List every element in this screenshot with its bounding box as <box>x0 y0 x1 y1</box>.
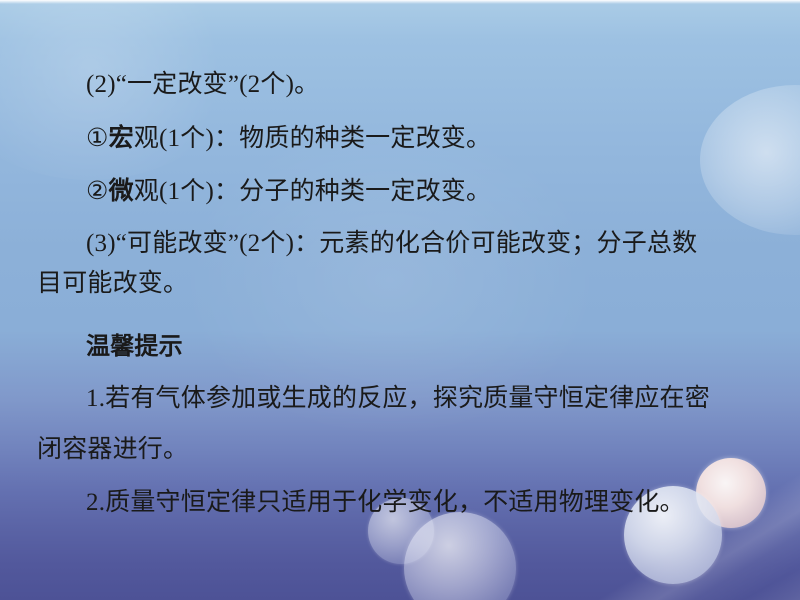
text-line-macro-rest: 观(1个)：物质的种类一定改变。 <box>134 125 491 152</box>
text-line-micro-rest: 观(1个)：分子的种类一定改变。 <box>134 178 491 205</box>
text-line-micro: ②微观(1个)：分子的种类一定改变。 <box>86 178 491 204</box>
text-line-macro: ①宏观(1个)：物质的种类一定改变。 <box>86 125 491 151</box>
tip-1-line-1: 1.若有气体参加或生成的反应，探究质量守恒定律应在密 <box>86 386 710 411</box>
tip-2-line-1: 2.质量守恒定律只适用于化学变化，不适用物理变化。 <box>86 490 685 515</box>
tip-section-heading: 温馨提示 <box>86 334 183 358</box>
text-line-2-heading: (2)“一定改变”(2个)。 <box>86 72 319 97</box>
emphasis-macro: 宏 <box>109 123 134 152</box>
emphasis-micro: 微 <box>109 176 134 205</box>
list-marker-circled-1: ① <box>86 125 109 152</box>
list-marker-circled-2: ② <box>86 178 109 205</box>
tip-1-line-2: 闭容器进行。 <box>37 437 188 462</box>
text-line-3-heading: (3)“可能改变”(2个)：元素的化合价可能改变；分子总数 <box>86 231 697 256</box>
slide-canvas: (2)“一定改变”(2个)。 ①宏观(1个)：物质的种类一定改变。 ②微观(1个… <box>0 0 800 600</box>
text-line-3-wrap: 目可能改变。 <box>37 271 188 296</box>
slide-text-body: (2)“一定改变”(2个)。 ①宏观(1个)：物质的种类一定改变。 ②微观(1个… <box>0 0 800 600</box>
